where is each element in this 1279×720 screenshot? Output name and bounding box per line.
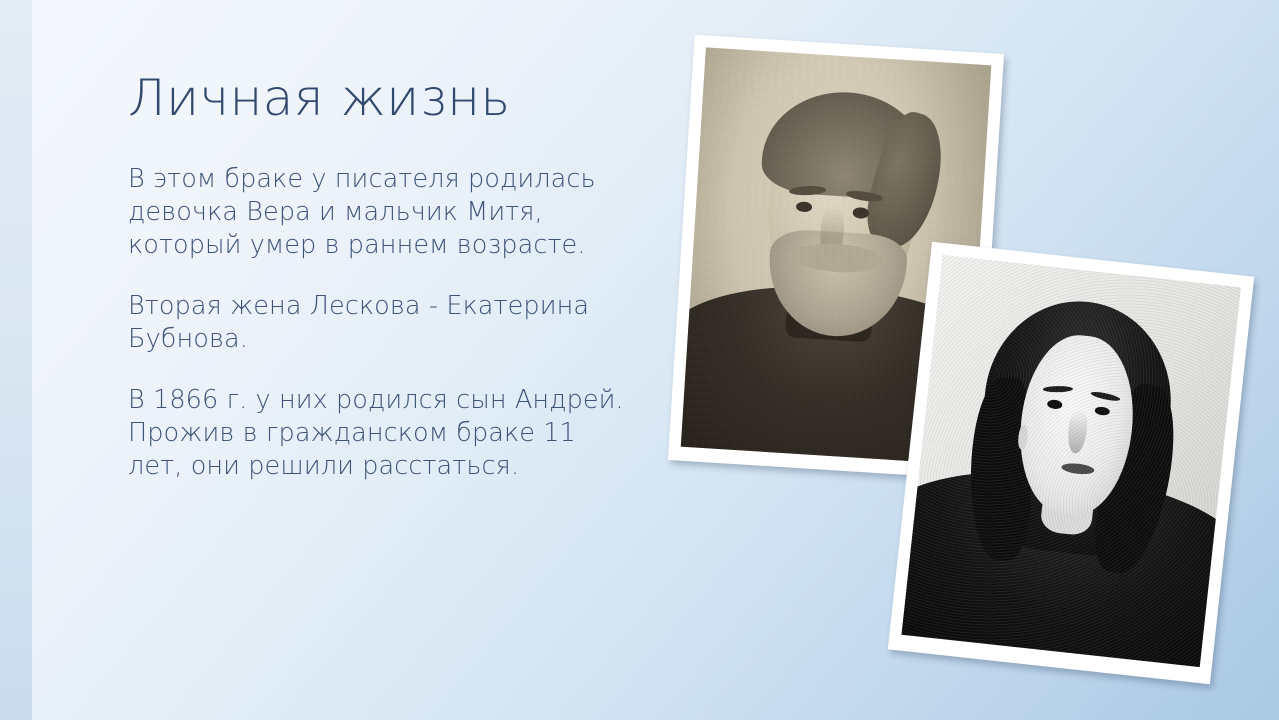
portrait-bubnova-frame [888,242,1254,685]
body-paragraph-2: Вторая жена Лескова - Екатерина Бубнова. [128,290,628,356]
portrait-eye-right [853,207,869,218]
page-title: Личная жизнь [128,72,648,125]
left-accent-band [0,0,32,720]
body-paragraph-1: В этом браке у писателя родилась девочка… [128,163,628,262]
body-paragraph-3: В 1866 г. у них родился сын Андрей. Прож… [128,384,628,483]
slide-text-column: Личная жизнь В этом браке у писателя род… [128,72,648,484]
presentation-slide: Личная жизнь В этом браке у писателя род… [0,0,1279,720]
portrait-bubnova-image [901,255,1241,667]
